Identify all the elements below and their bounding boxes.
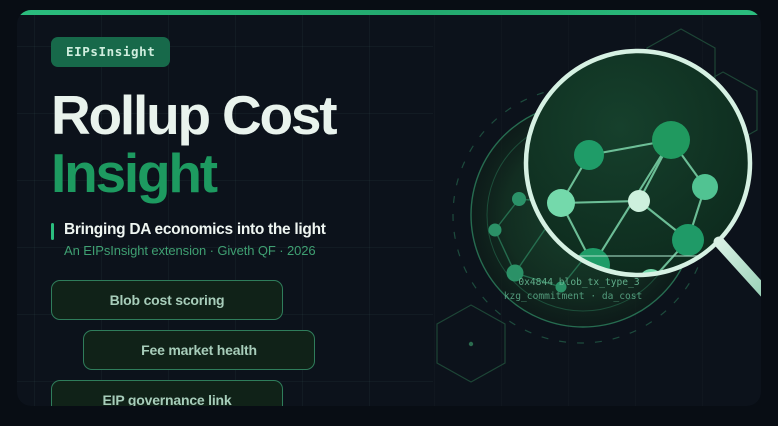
hero-text-column: EIPsInsight Rollup Cost Insight Bringing… — [51, 37, 421, 406]
meta-line: An EIPsInsight extension · Giveth QF · 2… — [64, 243, 421, 258]
brand-badge: EIPsInsight — [51, 37, 170, 67]
feature-chip-group: Blob cost scoring Fee market health EIP … — [51, 280, 421, 406]
subtitle-block: Bringing DA economics into the light An … — [51, 221, 421, 258]
magnifier-illustration: 0x4844 blob_tx_type_3 kzg_commitment · d… — [433, 15, 761, 406]
title-line-2: Insight — [51, 144, 421, 202]
chip-fee-market-health[interactable]: Fee market health — [83, 330, 315, 370]
code-text-line-2: kzg_commitment · da_cost — [504, 291, 643, 302]
chip-eip-governance-link[interactable]: EIP governance link — [51, 380, 283, 406]
code-text-line-1: 0x4844 blob_tx_type_3 — [518, 277, 640, 288]
title-line-1: Rollup Cost — [51, 84, 335, 146]
page-title: Rollup Cost Insight — [51, 86, 421, 202]
subtitle: Bringing DA economics into the light — [64, 221, 421, 239]
magnifier-svg: 0x4844 blob_tx_type_3 kzg_commitment · d… — [433, 15, 761, 406]
hero-card: EIPsInsight Rollup Cost Insight Bringing… — [17, 10, 761, 406]
hero-banner: EIPsInsight Rollup Cost Insight Bringing… — [0, 0, 778, 426]
chip-blob-cost-scoring[interactable]: Blob cost scoring — [51, 280, 283, 320]
magnifier-handle — [719, 242, 761, 315]
